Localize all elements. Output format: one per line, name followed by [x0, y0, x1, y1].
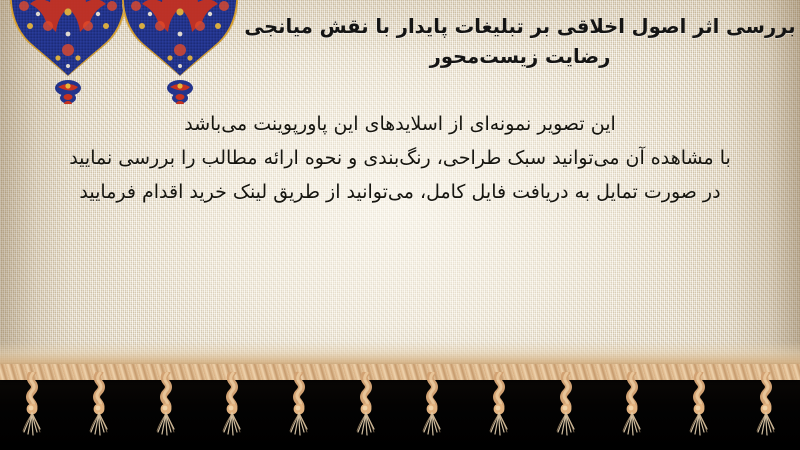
presentation-slide: بررسی اثر اصول اخلاقی بر تبلیغات پایدار …: [0, 0, 800, 450]
slide-title: بررسی اثر اصول اخلاقی بر تبلیغات پایدار …: [240, 12, 800, 71]
carpet-fringe-rail: [0, 364, 800, 380]
slide-title-line-2: رضایت زیست‌محور: [240, 42, 800, 72]
slide-body-line-1: این تصویر نمونه‌ای از اسلایدهای این پاور…: [0, 108, 800, 142]
carpet-black-field: [0, 368, 800, 450]
slide-body-line-2: با مشاهده آن می‌توانید سبک طراحی، رنگ‌بن…: [0, 142, 800, 176]
slide-body-text: این تصویر نمونه‌ای از اسلایدهای این پاور…: [0, 108, 800, 209]
slide-body-line-3: در صورت تمایل به دریافت فایل کامل، می‌تو…: [0, 176, 800, 210]
slide-title-line-1: بررسی اثر اصول اخلاقی بر تبلیغات پایدار …: [240, 12, 800, 42]
